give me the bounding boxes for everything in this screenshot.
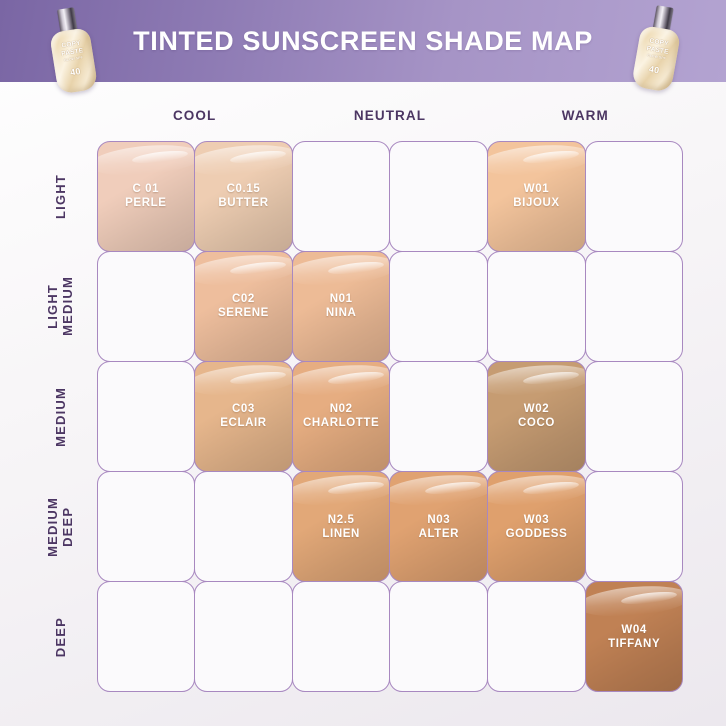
shade-label: W03GODDESS (506, 513, 568, 541)
shade-cell-empty (292, 141, 391, 252)
shade-cell-empty (487, 251, 586, 362)
shade-cell-empty (487, 581, 586, 692)
swatch-highlight (132, 149, 189, 166)
bottle-label-left: COPY PASTE GLOW SPF 40 (51, 38, 96, 79)
shade-label: C03ECLAIR (220, 402, 266, 430)
shade-cell-empty (389, 581, 488, 692)
swatch-highlight (327, 480, 384, 497)
shade-label: W01BIJOUX (513, 182, 559, 210)
swatch-highlight (230, 149, 287, 166)
shade-cell-empty (585, 141, 684, 252)
bottle-body-icon: COPY PASTE GLOW SPF 40 (631, 25, 681, 93)
shade-code: N2.5 (322, 513, 360, 527)
row-label-text: DEEP (53, 617, 68, 657)
row-label-deep: DEEP (30, 582, 90, 692)
row-label-text: MEDIUM DEEP (45, 497, 75, 557)
shade-label: N02CHARLOTTE (303, 402, 379, 430)
swatch-sheen (585, 582, 684, 620)
bottle-label-right: COPY PASTE GLOW SPF 40 (634, 36, 679, 77)
shade-cell-empty (97, 581, 196, 692)
shade-cell-empty (585, 361, 684, 472)
shade-cell-empty (97, 361, 196, 472)
shade-cell-n03[interactable]: N03ALTER (389, 471, 488, 582)
shade-code: C02 (218, 292, 269, 306)
shade-code: N01 (326, 292, 357, 306)
swatch-sheen (292, 472, 391, 510)
row-label-light: LIGHT (30, 141, 90, 251)
swatch-highlight (327, 369, 384, 386)
shade-name: PERLE (125, 196, 166, 210)
shade-label: N2.5LINEN (322, 513, 360, 541)
row-label-medium: MEDIUM (30, 361, 90, 471)
swatch-sheen (194, 141, 293, 179)
swatch-highlight (620, 590, 677, 607)
bottle-sub: GLOW SPF (53, 53, 94, 67)
shade-name: NINA (326, 306, 357, 320)
page-title: TINTED SUNSCREEN SHADE MAP (133, 26, 593, 57)
shade-name: GODDESS (506, 527, 568, 541)
shade-cell-empty (389, 141, 488, 252)
shade-cell-n25[interactable]: N2.5LINEN (292, 471, 391, 582)
bottle-spf-number: 40 (634, 63, 675, 77)
shade-cell-w02[interactable]: W02COCO (487, 361, 586, 472)
swatch-sheen (194, 251, 293, 289)
shade-code: C 01 (125, 182, 166, 196)
shade-cell-c015[interactable]: C0.15BUTTER (194, 141, 293, 252)
shade-code: W03 (506, 513, 568, 527)
swatch-highlight (230, 369, 287, 386)
bottle-body-icon: COPY PASTE GLOW SPF 40 (49, 27, 98, 94)
shade-code: C0.15 (218, 182, 268, 196)
row-label-light-medium: LIGHT MEDIUM (30, 251, 90, 361)
row-label-text: LIGHT (53, 174, 68, 219)
shade-name: TIFFANY (608, 637, 660, 651)
shade-code: W01 (513, 182, 559, 196)
shade-label: W02COCO (518, 402, 555, 430)
shade-cell-w04[interactable]: W04TIFFANY (585, 581, 684, 692)
swatch-highlight (425, 480, 482, 497)
shade-cell-empty (389, 361, 488, 472)
column-header-cool: COOL (97, 100, 292, 130)
shade-label: C0.15BUTTER (218, 182, 268, 210)
swatch-highlight (523, 480, 580, 497)
page-header: COPY PASTE GLOW SPF 40 TINTED SUNSCREEN … (0, 0, 726, 82)
shade-cell-n02[interactable]: N02CHARLOTTE (292, 361, 391, 472)
shade-cell-empty (97, 251, 196, 362)
shade-name: COCO (518, 416, 555, 430)
swatch-highlight (523, 369, 580, 386)
swatch-sheen (487, 361, 586, 399)
row-label-text: MEDIUM (53, 387, 68, 447)
shade-map-grid: C 01PERLEC0.15BUTTERW01BIJOUXC02SERENEN0… (97, 141, 683, 692)
shade-code: N03 (419, 513, 459, 527)
swatch-highlight (327, 259, 384, 276)
shade-name: BUTTER (218, 196, 268, 210)
shade-code: N02 (303, 402, 379, 416)
swatch-sheen (292, 361, 391, 399)
shade-cell-empty (97, 471, 196, 582)
shade-cell-c01[interactable]: C 01PERLE (97, 141, 196, 252)
shade-cell-w01[interactable]: W01BIJOUX (487, 141, 586, 252)
shade-name: SERENE (218, 306, 269, 320)
column-header-warm: WARM (488, 100, 683, 130)
shade-cell-empty (292, 581, 391, 692)
shade-cell-empty (194, 471, 293, 582)
swatch-highlight (230, 259, 287, 276)
shade-name: LINEN (322, 527, 360, 541)
swatch-highlight (523, 149, 580, 166)
shade-cell-c03[interactable]: C03ECLAIR (194, 361, 293, 472)
shade-cell-n01[interactable]: N01NINA (292, 251, 391, 362)
shade-code: W02 (518, 402, 555, 416)
swatch-sheen (97, 141, 196, 179)
shade-code: W04 (608, 623, 660, 637)
shade-name: CHARLOTTE (303, 416, 379, 430)
row-label-medium-deep: MEDIUM DEEP (30, 472, 90, 582)
shade-name: ECLAIR (220, 416, 266, 430)
depth-row-labels: LIGHTLIGHT MEDIUMMEDIUMMEDIUM DEEPDEEP (30, 141, 90, 692)
column-header-neutral: NEUTRAL (292, 100, 487, 130)
swatch-sheen (487, 141, 586, 179)
row-label-text: LIGHT MEDIUM (45, 276, 75, 336)
shade-code: C03 (220, 402, 266, 416)
shade-label: N01NINA (326, 292, 357, 320)
shade-cell-empty (585, 251, 684, 362)
shade-cell-c02[interactable]: C02SERENE (194, 251, 293, 362)
shade-cell-empty (585, 471, 684, 582)
swatch-sheen (487, 472, 586, 510)
shade-name: BIJOUX (513, 196, 559, 210)
product-bottle-right-icon: COPY PASTE GLOW SPF 40 (631, 3, 685, 93)
product-bottle-left-icon: COPY PASTE GLOW SPF 40 (46, 5, 99, 94)
bottle-spf-number: 40 (55, 65, 96, 79)
shade-label: C02SERENE (218, 292, 269, 320)
shade-cell-empty (194, 581, 293, 692)
undertone-column-headers: COOLNEUTRALWARM (97, 100, 683, 130)
swatch-sheen (292, 251, 391, 289)
shade-label: N03ALTER (419, 513, 459, 541)
shade-cell-empty (389, 251, 488, 362)
shade-label: W04TIFFANY (608, 623, 660, 651)
shade-cell-w03[interactable]: W03GODDESS (487, 471, 586, 582)
swatch-sheen (194, 361, 293, 399)
swatch-sheen (389, 472, 488, 510)
shade-label: C 01PERLE (125, 182, 166, 210)
shade-name: ALTER (419, 527, 459, 541)
